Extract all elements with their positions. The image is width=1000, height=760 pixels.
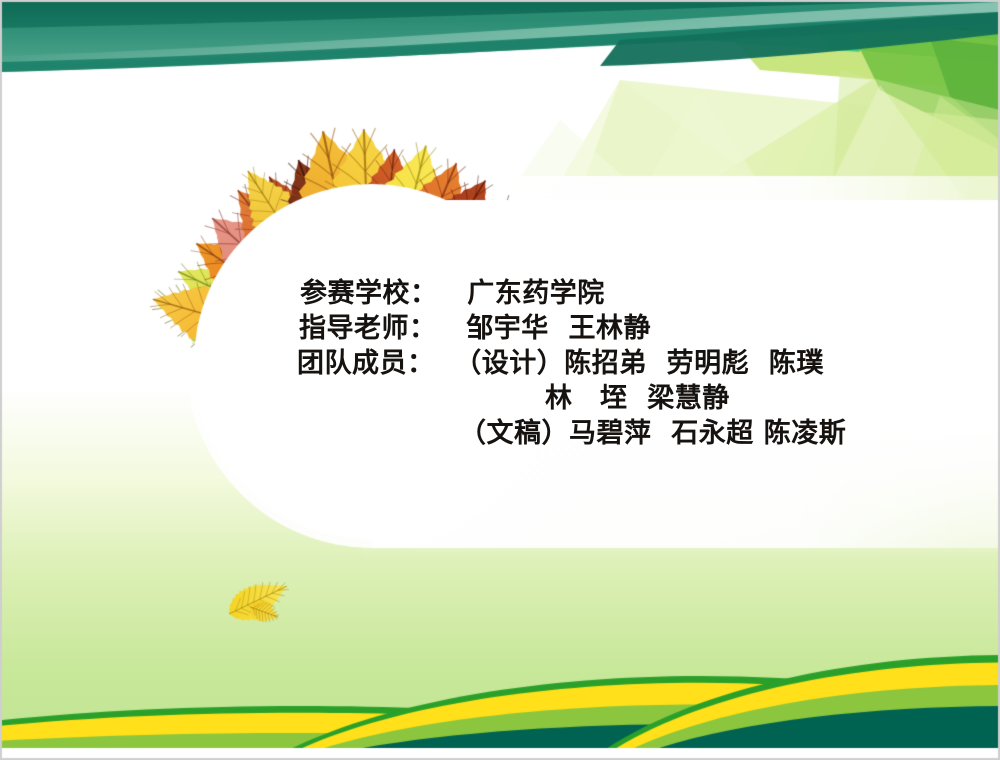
slide-artwork-canvas [0,0,1000,760]
title-slide: 参赛学校： 广东药学院 指导老师： 邹宇华 王林静 团队成员： （设计）陈招弟 … [0,0,1000,760]
